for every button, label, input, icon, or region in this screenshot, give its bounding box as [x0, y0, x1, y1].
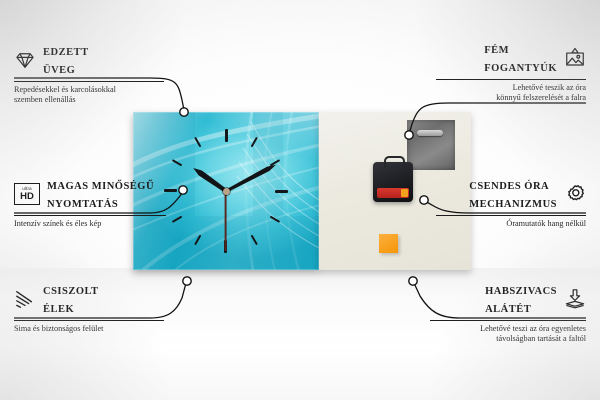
callout-polished-edges: CSISZOLT ÉLEK Sima és biztonságos felüle…: [14, 281, 164, 334]
callout-silent-mechanism: CSENDES ÓRA MECHANIZMUS Óramutatók hang …: [436, 176, 586, 229]
callout-header: EDZETT ÜVEG: [14, 42, 164, 78]
callout-divider: [14, 320, 164, 321]
callout-header: CSISZOLT ÉLEK: [14, 281, 164, 317]
callout-title: CSENDES ÓRA MECHANIZMUS: [469, 176, 557, 212]
callout-header: CSENDES ÓRA MECHANIZMUS: [436, 176, 586, 212]
callout-description: Óramutatók hang nélkül: [436, 219, 586, 229]
callout-title: CSISZOLT ÉLEK: [43, 281, 99, 317]
callout-description: Sima és biztonságos felület: [14, 324, 164, 334]
callout-header: ultra HD MAGAS MINŐSÉGŰ NYOMTATÁS: [14, 176, 166, 212]
clock-tick: [164, 190, 226, 192]
callout-divider: [436, 79, 586, 80]
callout-title: FÉM FOGANTYÚK: [484, 40, 557, 76]
callout-header: HABSZIVACS ALÁTÉT: [430, 281, 586, 317]
callout-foam-spacer: HABSZIVACS ALÁTÉT Lehetővé teszi az óra …: [430, 281, 586, 344]
clock-center-cap: [223, 188, 230, 195]
callout-header: FÉM FOGANTYÚK: [436, 40, 586, 76]
callout-title: HABSZIVACS ALÁTÉT: [485, 281, 557, 317]
ultra-hd-icon: ultra HD: [14, 183, 40, 205]
callout-title: MAGAS MINŐSÉGŰ NYOMTATÁS: [47, 176, 154, 212]
callout-tempered-glass: EDZETT ÜVEG Repedésekkel és karcolásokka…: [14, 42, 164, 105]
infographic-canvas: EDZETT ÜVEG Repedésekkel és karcolásokka…: [0, 0, 600, 400]
connector-node: [183, 277, 191, 285]
callout-description: Lehetővé teszi az óra egyenletes távolsá…: [430, 324, 586, 344]
clock-tick: [226, 190, 288, 192]
foam-pad: [379, 234, 398, 253]
callout-description: Repedésekkel és karcolásokkal szemben el…: [14, 85, 164, 105]
callout-divider: [14, 215, 166, 216]
hanger-slot: [417, 130, 443, 136]
battery: [377, 188, 409, 198]
clock-second-hand: [225, 191, 227, 251]
callout-metal-handles: FÉM FOGANTYÚK Lehetővé teszik az óra kön…: [436, 40, 586, 103]
callout-description: Lehetővé teszik az óra könnyű felszerelé…: [436, 83, 586, 103]
gear-icon: [564, 183, 586, 205]
callout-divider: [436, 215, 586, 216]
metal-hanger-bracket: [407, 120, 455, 170]
callout-title: EDZETT ÜVEG: [43, 42, 89, 78]
callout-divider: [430, 320, 586, 321]
callout-description: Intenzív színek és éles kép: [14, 219, 166, 229]
picture-hanger-icon: [564, 47, 586, 69]
callout-hd-print: ultra HD MAGAS MINŐSÉGŰ NYOMTATÁS Intenz…: [14, 176, 166, 229]
diamond-icon: [14, 49, 36, 71]
polished-edges-icon: [14, 288, 36, 310]
clock-mechanism: [373, 162, 413, 202]
callout-divider: [14, 81, 164, 82]
foam-pad-arrow-icon: [564, 288, 586, 310]
connector-node: [409, 277, 417, 285]
clock-tick: [225, 129, 227, 191]
mechanism-loop: [384, 156, 405, 167]
